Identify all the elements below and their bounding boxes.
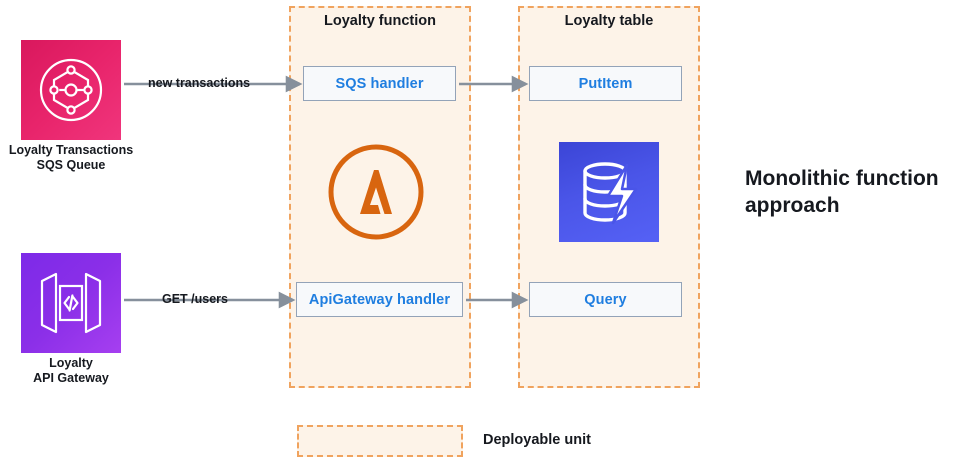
caption-sqs-queue: Loyalty Transactions SQS Queue <box>0 143 142 173</box>
legend-swatch-deployable-unit <box>297 425 463 457</box>
aws-lambda-icon <box>326 142 426 242</box>
page-title-line1: Monolithic function <box>745 165 975 192</box>
api-gateway-icon <box>21 253 121 353</box>
handler-label-sqs-handler: SQS handler <box>335 76 423 92</box>
operation-label-putitem: PutItem <box>579 76 633 92</box>
caption-api-gateway-line2: API Gateway <box>0 371 142 386</box>
operation-label-query: Query <box>584 292 626 308</box>
edge-label-new-transactions: new transactions <box>148 76 250 90</box>
operation-box-putitem[interactable]: PutItem <box>529 66 682 101</box>
handler-box-apigateway-handler[interactable]: ApiGateway handler <box>296 282 463 317</box>
edge-label-get-users: GET /users <box>162 292 228 306</box>
diagram-canvas: Loyalty function Loyalty table Loyalty T… <box>0 0 975 459</box>
operation-box-query[interactable]: Query <box>529 282 682 317</box>
connector-layer <box>0 0 975 459</box>
page-title: Monolithic function approach <box>745 165 975 219</box>
caption-sqs-queue-line2: SQS Queue <box>0 158 142 173</box>
legend-label-deployable-unit: Deployable unit <box>483 432 591 448</box>
caption-api-gateway: Loyalty API Gateway <box>0 356 142 386</box>
unit-title-loyalty-function: Loyalty function <box>289 13 471 29</box>
caption-api-gateway-line1: Loyalty <box>0 356 142 371</box>
amazon-dynamodb-icon <box>559 142 659 242</box>
page-title-line2: approach <box>745 192 975 219</box>
sqs-queue-icon <box>21 40 121 140</box>
unit-title-loyalty-table: Loyalty table <box>518 13 700 29</box>
caption-sqs-queue-line1: Loyalty Transactions <box>0 143 142 158</box>
handler-box-sqs-handler[interactable]: SQS handler <box>303 66 456 101</box>
handler-label-apigateway-handler: ApiGateway handler <box>309 292 450 308</box>
